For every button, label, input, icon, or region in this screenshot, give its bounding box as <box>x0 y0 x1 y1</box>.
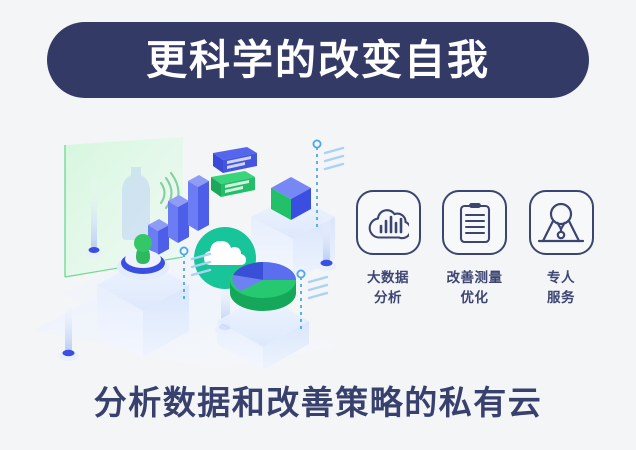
feature-badge <box>442 190 507 255</box>
cloud-bar-chart-icon <box>367 206 409 240</box>
banner-canvas: 更科学的改变自我 <box>0 0 636 450</box>
stripe-accent-c <box>309 277 327 298</box>
feature-label: 专人 服务 <box>547 269 575 308</box>
stripe-accent-a <box>325 148 343 169</box>
isometric-illustration <box>35 125 355 370</box>
feature-list: 大数据 分析 改善测量 <box>352 190 597 335</box>
page-title: 更科学的改变自我 <box>146 40 490 81</box>
label-badge-blue <box>213 147 257 173</box>
footer-tagline: 分析数据和改善策略的私有云 <box>0 385 636 421</box>
pie-chart-3d <box>230 262 296 311</box>
label-badge-green <box>211 171 255 197</box>
feature-item-service[interactable]: 专人 服务 <box>525 190 597 308</box>
support-agent-icon <box>537 201 585 245</box>
feature-badge <box>529 190 594 255</box>
clipboard-icon <box>458 202 492 244</box>
feature-label: 改善测量 优化 <box>447 269 503 308</box>
feature-item-measurement[interactable]: 改善测量 优化 <box>439 190 511 308</box>
feature-item-big-data[interactable]: 大数据 分析 <box>352 190 424 308</box>
green-glass-panel <box>65 137 183 277</box>
feature-badge <box>356 190 421 255</box>
header-banner: 更科学的改变自我 <box>47 22 589 98</box>
feature-label: 大数据 分析 <box>367 269 409 308</box>
